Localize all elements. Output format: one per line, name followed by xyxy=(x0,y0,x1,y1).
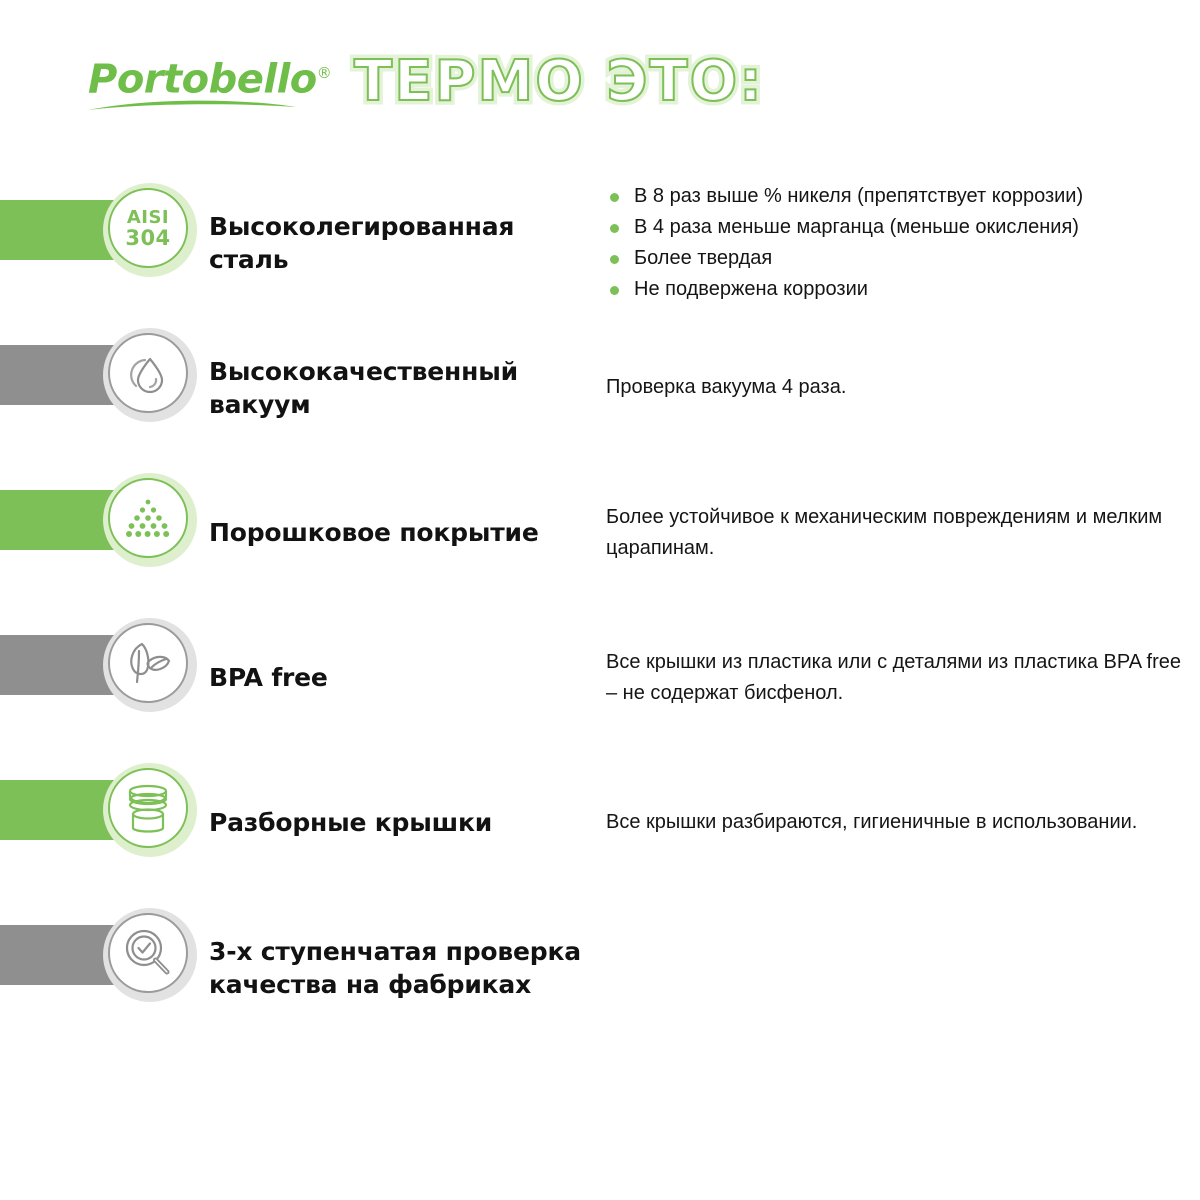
row-detail-text: Все крышки из пластика или с деталями из… xyxy=(606,647,1196,709)
lid-icon xyxy=(122,783,174,833)
badge-circle xyxy=(108,478,188,558)
row-detail-text: Более устойчивое к механическим поврежде… xyxy=(606,502,1196,564)
row-heading-text: Разборные крышки xyxy=(209,806,492,839)
registered-trademark-icon: ® xyxy=(317,64,332,82)
row-heading: Высококачественный вакуум xyxy=(209,315,589,460)
leaf-icon xyxy=(122,639,174,687)
row-heading-text: Порошковое покрытие xyxy=(209,516,539,549)
row-badge xyxy=(103,763,197,857)
feature-row-three-stage-quality-check: 3-х ступенчатая проверка качества на фаб… xyxy=(0,895,1200,1040)
badge-circle xyxy=(108,913,188,993)
row-detail-text: Проверка вакуума 4 раза. xyxy=(606,372,1196,403)
row-detail: Все крышки из пластика или с деталями из… xyxy=(606,605,1196,750)
badge-circle xyxy=(108,768,188,848)
row-heading-text: Высококачественный вакуум xyxy=(209,355,589,421)
page-title: ТЕРМО ЭТО: ТЕРМО ЭТО: xyxy=(348,46,818,116)
row-detail: Все крышки разбираются, гигиеничные в ис… xyxy=(606,750,1196,895)
feature-row-detachable-lids: Разборные крышки Все крышки разбираются,… xyxy=(0,750,1200,895)
list-item: Более твердая xyxy=(606,243,1196,274)
page-title-graphic: ТЕРМО ЭТО: ТЕРМО ЭТО: xyxy=(348,46,818,116)
row-heading: Разборные крышки xyxy=(209,750,589,895)
row-heading: 3-х ступенчатая проверка качества на фаб… xyxy=(209,895,589,1040)
feature-row-bpa-free: BPA free Все крышки из пластика или с де… xyxy=(0,605,1200,750)
powder-dots-icon xyxy=(124,496,172,540)
feature-row-aisi-304-steel: AISI 304 Высоколегированная сталь В 8 ра… xyxy=(0,170,1200,315)
badge-line-1: AISI xyxy=(125,207,170,228)
row-heading: Порошковое покрытие xyxy=(209,460,589,605)
list-item: В 4 раза меньше марганца (меньше окислен… xyxy=(606,212,1196,243)
row-heading: Высоколегированная сталь xyxy=(209,170,589,315)
badge-circle xyxy=(108,623,188,703)
row-detail: В 8 раз выше % никеля (препятствует корр… xyxy=(606,170,1196,315)
row-badge xyxy=(103,473,197,567)
row-detail xyxy=(606,895,1196,1040)
page-header: Portobello® ТЕРМО ЭТО: ТЕРМО ЭТО: xyxy=(0,0,1200,160)
water-drop-icon xyxy=(123,348,173,398)
row-heading-text: 3-х ступенчатая проверка качества на фаб… xyxy=(209,935,589,1001)
row-badge xyxy=(103,618,197,712)
row-detail: Более устойчивое к механическим поврежде… xyxy=(606,460,1196,605)
badge-circle xyxy=(108,333,188,413)
badge-line-2: 304 xyxy=(125,228,170,249)
row-heading-text: Высоколегированная сталь xyxy=(209,210,589,276)
row-heading: BPA free xyxy=(209,605,589,750)
row-bullet-list: В 8 раз выше % никеля (препятствует корр… xyxy=(606,181,1196,305)
list-item: Не подвержена коррозии xyxy=(606,274,1196,305)
page-title-outline: ТЕРМО ЭТО: xyxy=(354,49,764,114)
magnifier-check-icon xyxy=(122,927,174,979)
row-badge: AISI 304 xyxy=(103,183,197,277)
row-badge xyxy=(103,908,197,1002)
row-detail-text: Все крышки разбираются, гигиеничные в ис… xyxy=(606,807,1196,838)
row-detail: Проверка вакуума 4 раза. xyxy=(606,315,1196,460)
feature-row-powder-coating: Порошковое покрытие Более устойчивое к м… xyxy=(0,460,1200,605)
feature-list: AISI 304 Высоколегированная сталь В 8 ра… xyxy=(0,170,1200,1040)
portobello-logo: Portobello® xyxy=(88,50,298,116)
list-item: В 8 раз выше % никеля (препятствует корр… xyxy=(606,181,1196,212)
row-badge xyxy=(103,328,197,422)
logo-wordmark: Portobello® xyxy=(88,50,298,102)
logo-swoosh-icon xyxy=(88,96,296,112)
row-heading-text: BPA free xyxy=(209,661,328,694)
feature-row-high-quality-vacuum: Высококачественный вакуум Проверка вакуу… xyxy=(0,315,1200,460)
aisi-304-badge-icon: AISI 304 xyxy=(108,188,188,268)
